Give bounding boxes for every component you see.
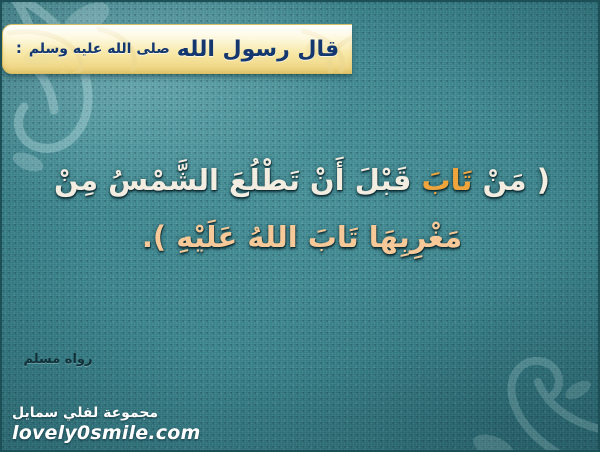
title-banner: قال رسول الله صلى الله عليه وسلم :	[2, 24, 352, 74]
banner-text-group: قال رسول الله صلى الله عليه وسلم :	[3, 25, 352, 74]
footer-website-url: lovely0smile.com	[12, 422, 201, 444]
hadith-line1-highlight: تَابَ	[422, 163, 473, 197]
hadith-text-block: ( مَنْ تَابَ قَبْلَ أَنْ تَطْلُعَ الشَّم…	[2, 160, 600, 258]
hadith-line-2: مَغْرِبِهَا تَابَ اللهُ عَلَيْهِ ).	[2, 217, 600, 258]
banner-colon: :	[16, 39, 22, 59]
hadith-line1-after: قَبْلَ أَنْ تَطْلُعَ الشَّمْسُ مِنْ	[54, 163, 422, 197]
footer-arabic-label: مجموعة لفلي سمايل	[12, 405, 201, 421]
hadith-card: قال رسول الله صلى الله عليه وسلم : ( مَن…	[0, 0, 600, 452]
hadith-line-1: ( مَنْ تَابَ قَبْلَ أَنْ تَطْلُعَ الشَّم…	[2, 160, 600, 201]
hadith-line1-before: ( مَنْ	[472, 163, 550, 197]
banner-honorific: صلى الله عليه وسلم	[29, 41, 170, 58]
footer-watermark: مجموعة لفلي سمايل lovely0smile.com	[12, 405, 201, 444]
banner-main-text: قال رسول الله	[177, 37, 339, 62]
narrator-attribution: رواه مسلم	[18, 352, 98, 367]
